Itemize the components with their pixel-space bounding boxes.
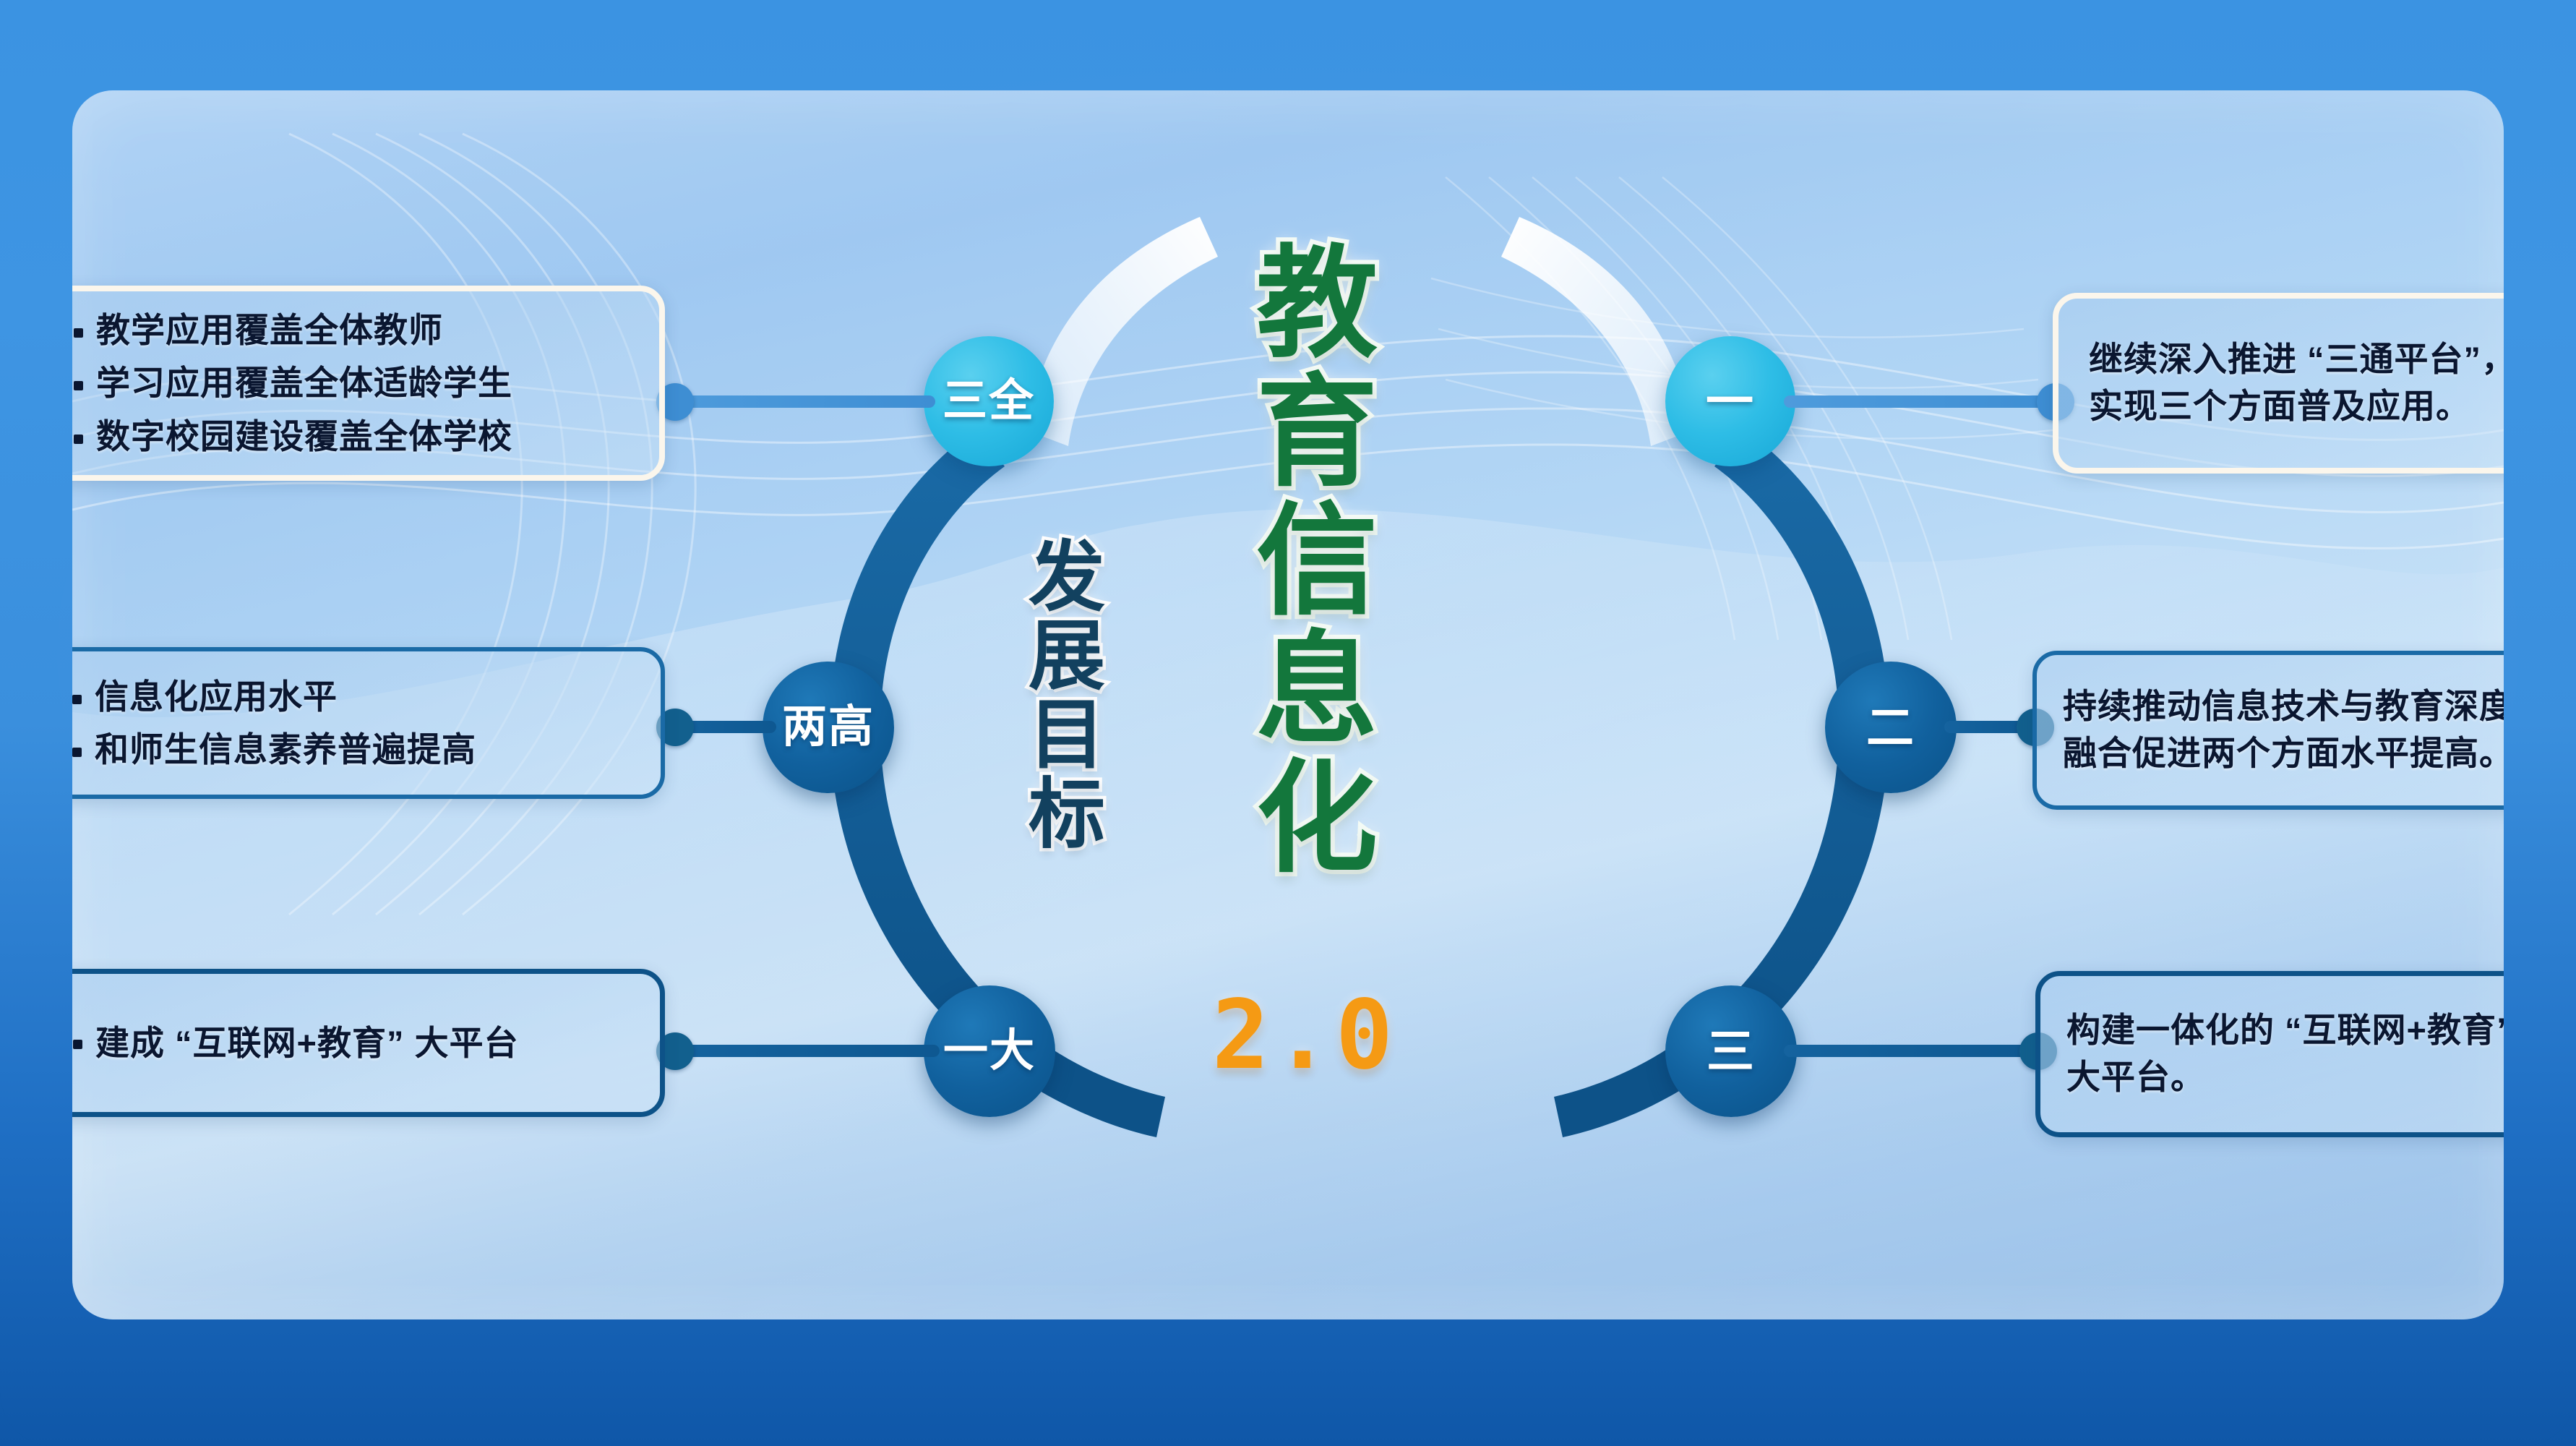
paragraph-line: 构建一体化的 “互联网+教育” — [2066, 1007, 2504, 1054]
node-three-label: 三 — [1706, 1027, 1756, 1075]
info-box-two[interactable]: 持续推动信息技术与教育深度 融合促进两个方面水平提高。 — [2032, 651, 2504, 810]
bullet-icon — [74, 381, 83, 390]
list-item-text: 教学应用覆盖全体教师 — [96, 308, 443, 352]
node-lianggao[interactable]: 两高 — [763, 662, 894, 793]
bullet-icon — [74, 328, 83, 338]
node-one[interactable]: 一 — [1665, 336, 1795, 466]
version-badge: 2.0 — [1185, 980, 1424, 1091]
connector-one — [1784, 395, 2058, 408]
arc-top-right — [1501, 217, 1693, 446]
info-box-yida[interactable]: 建成 “互联网+教育” 大平台 — [72, 969, 665, 1117]
paragraph-line: 实现三个方面普及应用。 — [2089, 383, 2504, 430]
infographic-canvas: 三全 两高 一大 一 二 三 — [0, 0, 2576, 1446]
paragraph-line: 融合促进两个方面水平提高。 — [2063, 730, 2504, 777]
list-item-text: 和师生信息素养普遍提高 — [95, 727, 476, 771]
list-item: 和师生信息素养普遍提高 — [72, 727, 636, 771]
main-title-char-5: 化 — [1256, 753, 1378, 882]
list-item: 教学应用覆盖全体教师 — [74, 308, 635, 352]
list-item: 学习应用覆盖全体适龄学生 — [74, 361, 635, 405]
bullet-icon — [72, 748, 82, 757]
list-item-text: 数字校园建设覆盖全体学校 — [96, 414, 512, 458]
bullet-icon — [74, 435, 83, 444]
list-item: 数字校园建设覆盖全体学校 — [74, 414, 635, 458]
node-two[interactable]: 二 — [1825, 662, 1957, 793]
arc-top-left — [1026, 217, 1218, 446]
bullet-icon — [73, 1040, 82, 1049]
list-item: 信息化应用水平 — [72, 675, 636, 719]
node-three[interactable]: 三 — [1665, 985, 1797, 1117]
center-goal-char-4: 标 — [1029, 776, 1105, 855]
connector-yida — [668, 1045, 940, 1057]
paragraph-line: 继续深入推进 “三通平台”， — [2089, 336, 2504, 383]
node-yida-label: 一大 — [943, 1029, 1036, 1074]
main-title-char-4: 息 — [1256, 625, 1378, 753]
main-title-char-2: 育 — [1256, 367, 1378, 496]
bullet-icon — [72, 695, 82, 704]
info-box-three[interactable]: 构建一体化的 “互联网+教育” 大平台。 — [2035, 971, 2504, 1137]
connector-sanquan — [668, 395, 935, 408]
list-item: 建成 “互联网+教育” 大平台 — [73, 1021, 635, 1065]
connector-three — [1784, 1045, 2040, 1057]
info-box-one[interactable]: 继续深入推进 “三通平台”， 实现三个方面普及应用。 — [2053, 293, 2504, 474]
paragraph-line: 持续推动信息技术与教育深度 — [2063, 683, 2504, 730]
node-sanquan[interactable]: 三全 — [924, 336, 1054, 466]
node-sanquan-label: 三全 — [943, 379, 1035, 424]
main-title: 教 育 信 息 化 — [1216, 239, 1418, 882]
node-two-label: 二 — [1866, 703, 1915, 751]
node-one-label: 一 — [1706, 377, 1755, 425]
center-goal-char-1: 发 — [1029, 539, 1105, 617]
frame-notch-bottom — [352, 1320, 858, 1446]
main-title-char-3: 信 — [1256, 496, 1378, 625]
info-box-sanquan[interactable]: 教学应用覆盖全体教师 学习应用覆盖全体适龄学生 数字校园建设覆盖全体学校 — [72, 286, 665, 481]
center-goal-char-3: 目 — [1029, 696, 1105, 775]
node-lianggao-label: 两高 — [782, 705, 875, 750]
list-item-text: 建成 “互联网+教育” 大平台 — [95, 1021, 519, 1065]
main-title-char-1: 教 — [1256, 239, 1378, 367]
center-goal-char-2: 展 — [1029, 617, 1105, 696]
center-goal-label: 发 展 目 标 — [1016, 539, 1117, 855]
node-yida[interactable]: 一大 — [924, 985, 1055, 1117]
info-box-lianggao[interactable]: 信息化应用水平 和师生信息素养普遍提高 — [72, 647, 665, 799]
inner-panel: 三全 两高 一大 一 二 三 — [72, 90, 2504, 1319]
list-item-text: 学习应用覆盖全体适龄学生 — [96, 361, 512, 405]
list-item-text: 信息化应用水平 — [95, 675, 338, 719]
paragraph-line: 大平台。 — [2066, 1054, 2504, 1101]
